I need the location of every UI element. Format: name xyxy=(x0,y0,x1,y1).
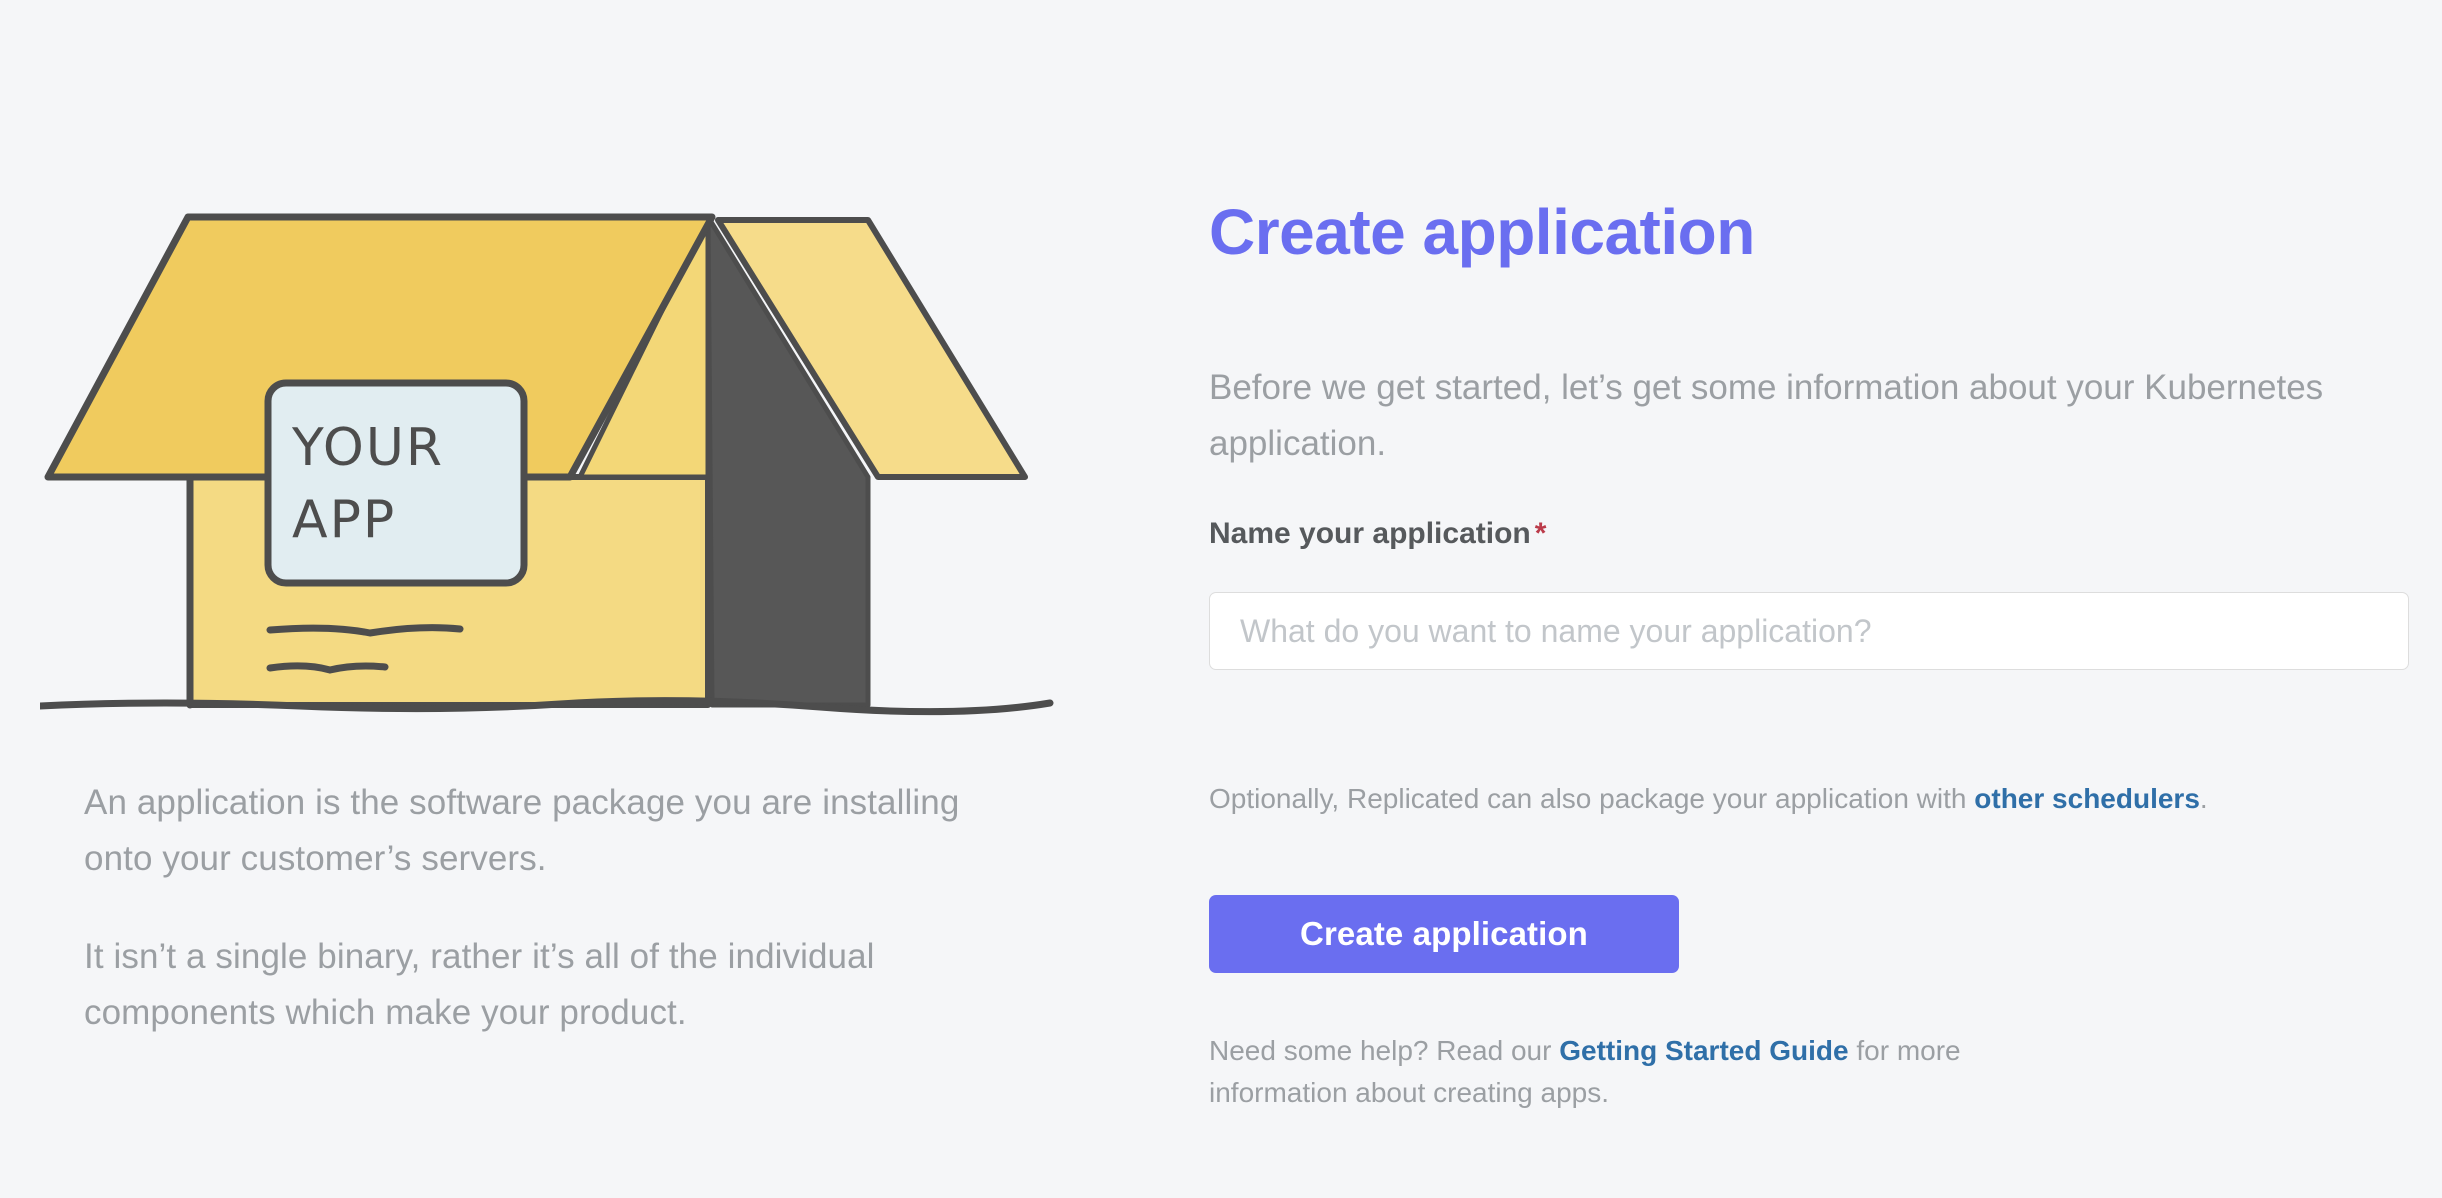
required-asterisk-icon: * xyxy=(1535,517,1547,550)
label-text-line1: YOUR xyxy=(291,418,444,478)
other-schedulers-note-suffix: . xyxy=(2200,783,2208,814)
getting-started-guide-link[interactable]: Getting Started Guide xyxy=(1559,1035,1848,1066)
application-name-label-text: Name your application xyxy=(1209,517,1531,550)
application-name-input[interactable] xyxy=(1209,592,2409,670)
help-note-prefix: Need some help? Read our xyxy=(1209,1035,1559,1066)
left-description-block: An application is the software package y… xyxy=(84,775,984,1041)
other-schedulers-note: Optionally, Replicated can also package … xyxy=(1209,780,2208,818)
create-application-page: YOUR APP An application is the software … xyxy=(0,0,2442,1198)
cardboard-box-illustration: YOUR APP xyxy=(40,185,1060,745)
create-application-form-column: Create application Before we get started… xyxy=(1209,0,2419,1198)
page-title: Create application xyxy=(1209,197,1755,267)
address-line-2 xyxy=(270,666,385,670)
other-schedulers-note-prefix: Optionally, Replicated can also package … xyxy=(1209,783,1974,814)
other-schedulers-link[interactable]: other schedulers xyxy=(1974,783,2200,814)
help-note: Need some help? Read our Getting Started… xyxy=(1209,1030,2009,1114)
application-name-label: Name your application* xyxy=(1209,516,1546,552)
left-info-column: YOUR APP An application is the software … xyxy=(0,0,1130,1198)
ground-line xyxy=(40,701,1050,712)
shipping-label xyxy=(268,383,524,583)
left-paragraph-1: An application is the software package y… xyxy=(84,775,984,887)
create-application-button[interactable]: Create application xyxy=(1209,895,1679,973)
page-subtitle: Before we get started, let’s get some in… xyxy=(1209,360,2344,472)
label-text-line2: APP xyxy=(292,490,396,550)
left-paragraph-2: It isn’t a single binary, rather it’s al… xyxy=(84,929,984,1041)
